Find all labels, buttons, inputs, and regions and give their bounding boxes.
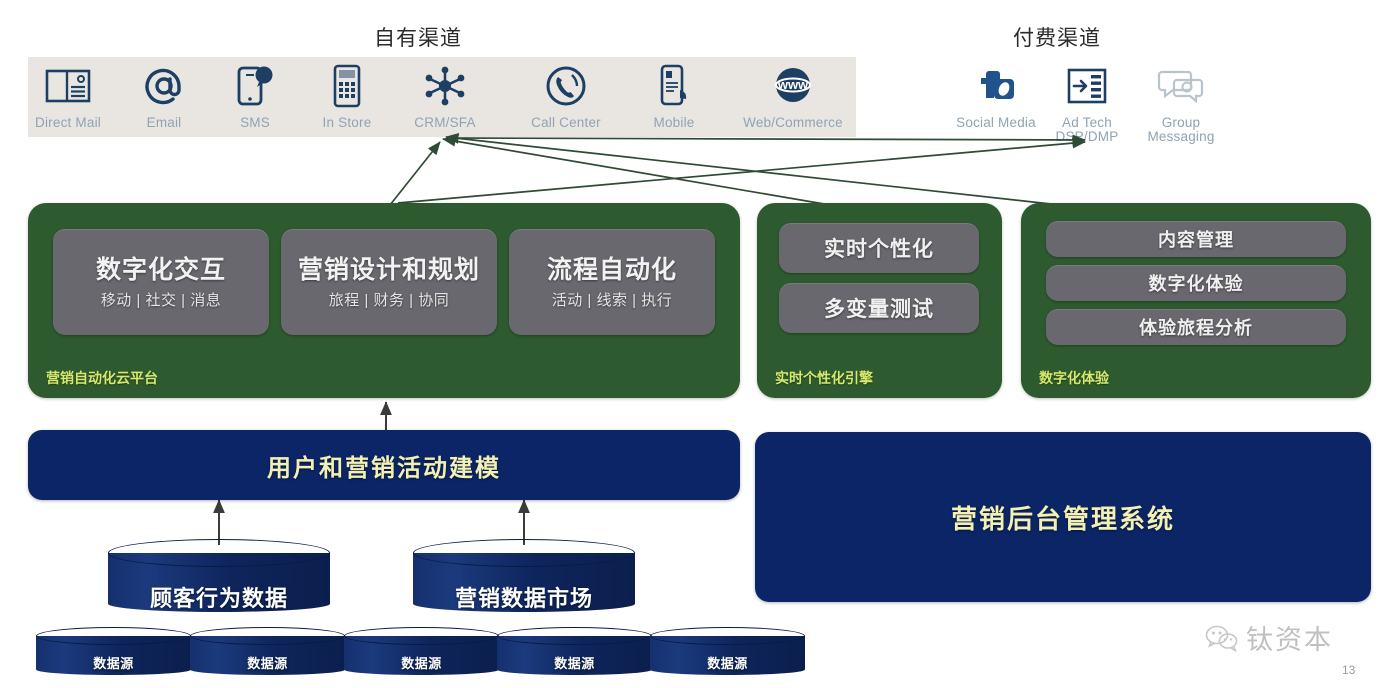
modeling-box-title: 用户和营销活动建模: [267, 448, 501, 483]
channel-label: Group: [1162, 116, 1201, 130]
cylinder-label: 数据源: [497, 653, 652, 672]
platform-card[interactable]: 数字化交互 移动 | 社交 | 消息: [53, 229, 269, 335]
paid-channels-heading: 付费渠道: [1013, 22, 1101, 52]
cylinder-label: 顾客行为数据: [108, 581, 330, 613]
platform-caption: 营销自动化云平台: [46, 368, 158, 388]
card-title: 数字化体验: [1149, 270, 1244, 296]
channel-email[interactable]: Email: [125, 60, 203, 130]
platform-caption: 实时个性化引擎: [775, 368, 873, 388]
cylinder-top: [497, 627, 652, 645]
card-title: 流程自动化: [547, 255, 677, 285]
backoffice-box-title: 营销后台管理系统: [951, 499, 1175, 536]
data-store-cylinder[interactable]: 营销数据市场: [413, 539, 635, 612]
channel-in-store[interactable]: In Store: [308, 60, 386, 130]
watermark-text: 钛资本: [1246, 618, 1333, 657]
platform-card[interactable]: 营销设计和规划 旅程 | 财务 | 协同: [281, 229, 497, 335]
channel-label: Social Media: [956, 116, 1036, 130]
platform-marketing-automation[interactable]: 数字化交互 移动 | 社交 | 消息 营销设计和规划 旅程 | 财务 | 协同 …: [28, 203, 740, 398]
cylinder-top: [108, 539, 330, 567]
data-source-cylinder[interactable]: 数据源: [36, 627, 191, 675]
direct-mail-icon: [45, 60, 91, 112]
mobile-device-icon: [655, 60, 693, 112]
sms-phone-icon: [235, 60, 275, 112]
data-source-cylinder[interactable]: 数据源: [344, 627, 499, 675]
channel-label: Call Center: [531, 116, 601, 130]
data-source-cylinder[interactable]: 数据源: [497, 627, 652, 675]
channel-label: Ad Tech: [1062, 116, 1112, 130]
platform-digital-experience[interactable]: 内容管理 数字化体验 体验旅程分析 数字化体验: [1021, 203, 1371, 398]
data-store-cylinder[interactable]: 顾客行为数据: [108, 539, 330, 612]
channel-label: SMS: [240, 116, 270, 130]
platform-card[interactable]: 多变量测试: [779, 283, 979, 333]
wechat-logo-icon: [1205, 623, 1239, 653]
cylinder-top: [650, 627, 805, 645]
card-title: 多变量测试: [824, 293, 934, 323]
data-source-cylinder[interactable]: 数据源: [190, 627, 345, 675]
platform-caption: 数字化体验: [1039, 368, 1109, 388]
cylinder-label: 营销数据市场: [413, 581, 635, 613]
cylinder-label: 数据源: [344, 653, 499, 672]
group-messaging-bubbles-icon: [1157, 60, 1205, 112]
ad-tech-arrow-list-icon: [1065, 60, 1109, 112]
platform-card[interactable]: 流程自动化 活动 | 线索 | 执行: [509, 229, 715, 335]
card-title: 数字化交互: [96, 255, 226, 285]
channel-ad-tech[interactable]: Ad Tech DSP/DMP: [1047, 60, 1127, 144]
platform-card[interactable]: 数字化体验: [1046, 265, 1346, 301]
web-commerce-www-icon: www: [767, 60, 819, 112]
crm-sfa-network-icon: [420, 60, 470, 112]
channel-sms[interactable]: SMS: [216, 60, 294, 130]
channel-group-messaging[interactable]: Group Messaging: [1136, 60, 1226, 144]
channel-mobile[interactable]: Mobile: [638, 60, 710, 130]
backoffice-box[interactable]: 营销后台管理系统: [755, 432, 1371, 602]
cylinder-label: 数据源: [190, 653, 345, 672]
channel-web-commerce[interactable]: www Web/Commerce: [730, 60, 856, 130]
card-subtitle: 移动 | 社交 | 消息: [101, 289, 221, 310]
channel-label: Email: [147, 116, 182, 130]
channel-sublabel: Messaging: [1147, 130, 1214, 144]
channel-crm-sfa[interactable]: CRM/SFA: [402, 60, 488, 130]
card-title: 营销设计和规划: [298, 255, 480, 285]
channel-sublabel: DSP/DMP: [1056, 130, 1119, 144]
platform-card[interactable]: 内容管理: [1046, 221, 1346, 257]
channel-label: In Store: [323, 116, 372, 130]
channel-label: Direct Mail: [35, 116, 101, 130]
channel-label: CRM/SFA: [414, 116, 475, 130]
slide-canvas: 自有渠道 付费渠道 Direct Mail Email: [0, 0, 1399, 688]
platform-card[interactable]: 实时个性化: [779, 223, 979, 273]
call-center-phone-icon: [543, 60, 589, 112]
card-title: 内容管理: [1158, 226, 1234, 252]
card-title: 体验旅程分析: [1139, 314, 1253, 340]
card-subtitle: 活动 | 线索 | 执行: [552, 289, 672, 310]
cylinder-top: [190, 627, 345, 645]
cylinder-label: 数据源: [36, 653, 191, 672]
cylinder-top: [413, 539, 635, 567]
social-media-facebook-icon: [973, 60, 1019, 112]
in-store-icon: [329, 60, 365, 112]
cylinder-top: [36, 627, 191, 645]
channel-call-center[interactable]: Call Center: [518, 60, 614, 130]
data-source-cylinder[interactable]: 数据源: [650, 627, 805, 675]
channel-label: Web/Commerce: [743, 116, 843, 130]
page-number: 13: [1342, 663, 1355, 677]
modeling-box[interactable]: 用户和营销活动建模: [28, 430, 740, 500]
card-subtitle: 旅程 | 财务 | 协同: [329, 289, 449, 310]
cylinder-top: [344, 627, 499, 645]
owned-channels-heading: 自有渠道: [374, 22, 462, 52]
platform-card[interactable]: 体验旅程分析: [1046, 309, 1346, 345]
channel-label: Mobile: [654, 116, 695, 130]
channel-social-media[interactable]: Social Media: [950, 60, 1042, 130]
card-title: 实时个性化: [824, 233, 934, 263]
channel-direct-mail[interactable]: Direct Mail: [28, 60, 108, 130]
email-at-icon: [142, 60, 186, 112]
watermark: 钛资本: [1205, 618, 1333, 657]
svg-text:www: www: [777, 77, 809, 92]
platform-realtime-personalization[interactable]: 实时个性化 多变量测试 实时个性化引擎: [757, 203, 1002, 398]
cylinder-label: 数据源: [650, 653, 805, 672]
